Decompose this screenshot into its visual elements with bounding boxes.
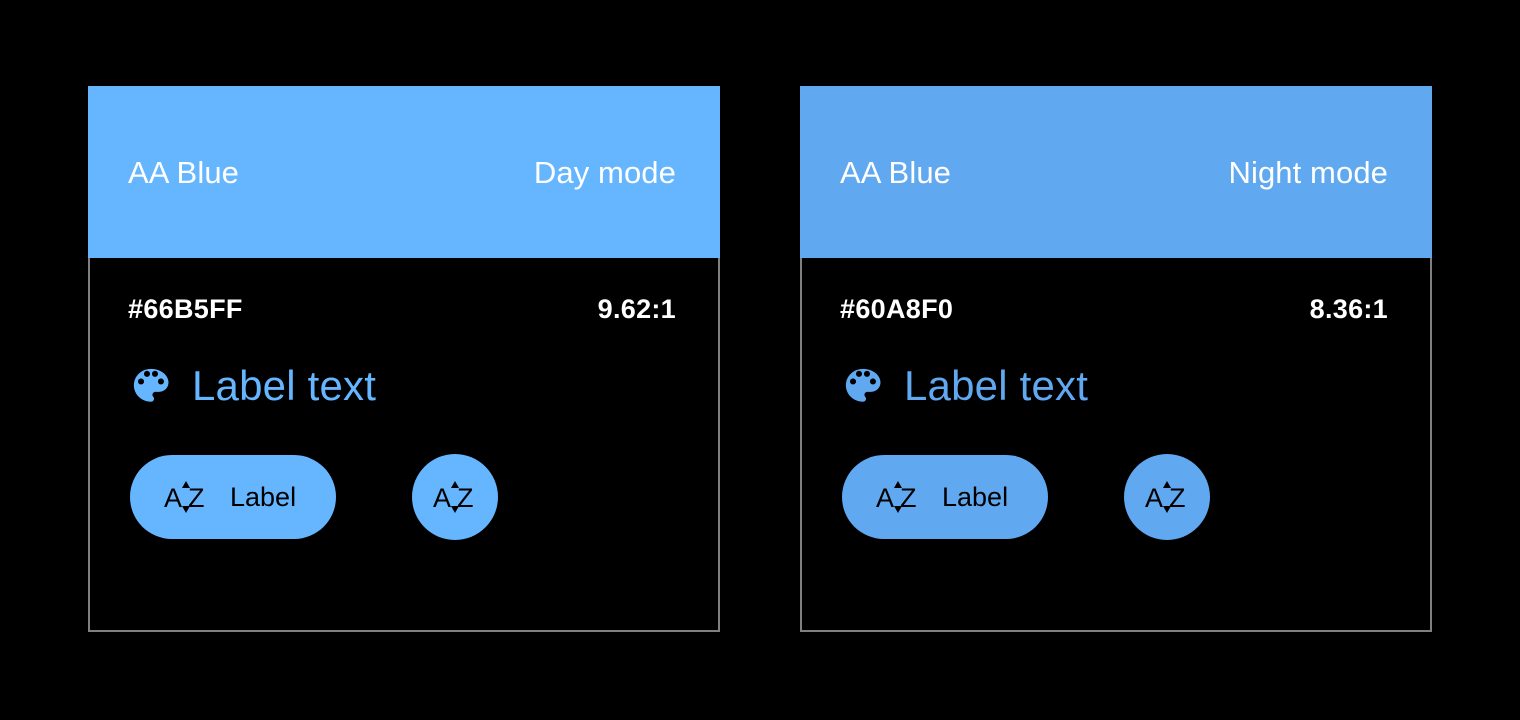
hex-code-night: #60A8F0 xyxy=(840,296,953,323)
hex-code-day: #66B5FF xyxy=(128,296,243,323)
card-mode-label-day: Day mode xyxy=(534,157,680,188)
svg-text:Z: Z xyxy=(900,483,917,513)
color-preview-card-day: AA Blue Day mode #66B5FF 9.62:1 Label te… xyxy=(88,86,720,632)
swatch-info-row-night: #60A8F0 8.36:1 xyxy=(840,258,1394,344)
svg-text:Z: Z xyxy=(188,483,205,513)
sample-label-row-night: Label text xyxy=(840,344,1394,428)
palette-icon xyxy=(130,365,172,407)
card-body-day: #66B5FF 9.62:1 Label text A Z xyxy=(88,258,720,632)
sort-az-icon: A Z xyxy=(1143,477,1191,517)
sort-az-pill-button-label-night: Label xyxy=(942,484,1008,511)
card-body-night: #60A8F0 8.36:1 Label text A Z xyxy=(800,258,1432,632)
sort-az-icon: A Z xyxy=(162,477,210,517)
card-title-day: AA Blue xyxy=(128,157,239,188)
svg-text:A: A xyxy=(164,483,182,513)
swatch-info-row-day: #66B5FF 9.62:1 xyxy=(128,258,682,344)
contrast-ratio-night: 8.36:1 xyxy=(1310,296,1394,323)
svg-text:A: A xyxy=(876,483,894,513)
sort-az-pill-button-day[interactable]: A Z Label xyxy=(130,455,336,539)
sort-az-circle-button-day[interactable]: A Z xyxy=(412,454,498,540)
sample-label-text-day: Label text xyxy=(192,365,376,407)
sort-az-pill-button-label-day: Label xyxy=(230,484,296,511)
card-header-day: AA Blue Day mode xyxy=(88,86,720,258)
card-header-night: AA Blue Night mode xyxy=(800,86,1432,258)
button-row-night: A Z Label A Z xyxy=(840,428,1394,548)
svg-text:Z: Z xyxy=(457,483,474,513)
button-row-day: A Z Label A Z xyxy=(128,428,682,548)
card-mode-label-night: Night mode xyxy=(1228,157,1392,188)
screen-root: AA Blue Day mode #66B5FF 9.62:1 Label te… xyxy=(0,0,1520,720)
contrast-ratio-day: 9.62:1 xyxy=(598,296,682,323)
palette-icon xyxy=(842,365,884,407)
sort-az-icon: A Z xyxy=(874,477,922,517)
svg-text:Z: Z xyxy=(1169,483,1186,513)
svg-text:A: A xyxy=(433,483,451,513)
sort-az-pill-button-night[interactable]: A Z Label xyxy=(842,455,1048,539)
sort-az-icon: A Z xyxy=(431,477,479,517)
sample-label-row-day: Label text xyxy=(128,344,682,428)
card-title-night: AA Blue xyxy=(840,157,951,188)
color-preview-card-night: AA Blue Night mode #60A8F0 8.36:1 Label … xyxy=(800,86,1432,632)
sort-az-circle-button-night[interactable]: A Z xyxy=(1124,454,1210,540)
svg-text:A: A xyxy=(1145,483,1163,513)
sample-label-text-night: Label text xyxy=(904,365,1088,407)
